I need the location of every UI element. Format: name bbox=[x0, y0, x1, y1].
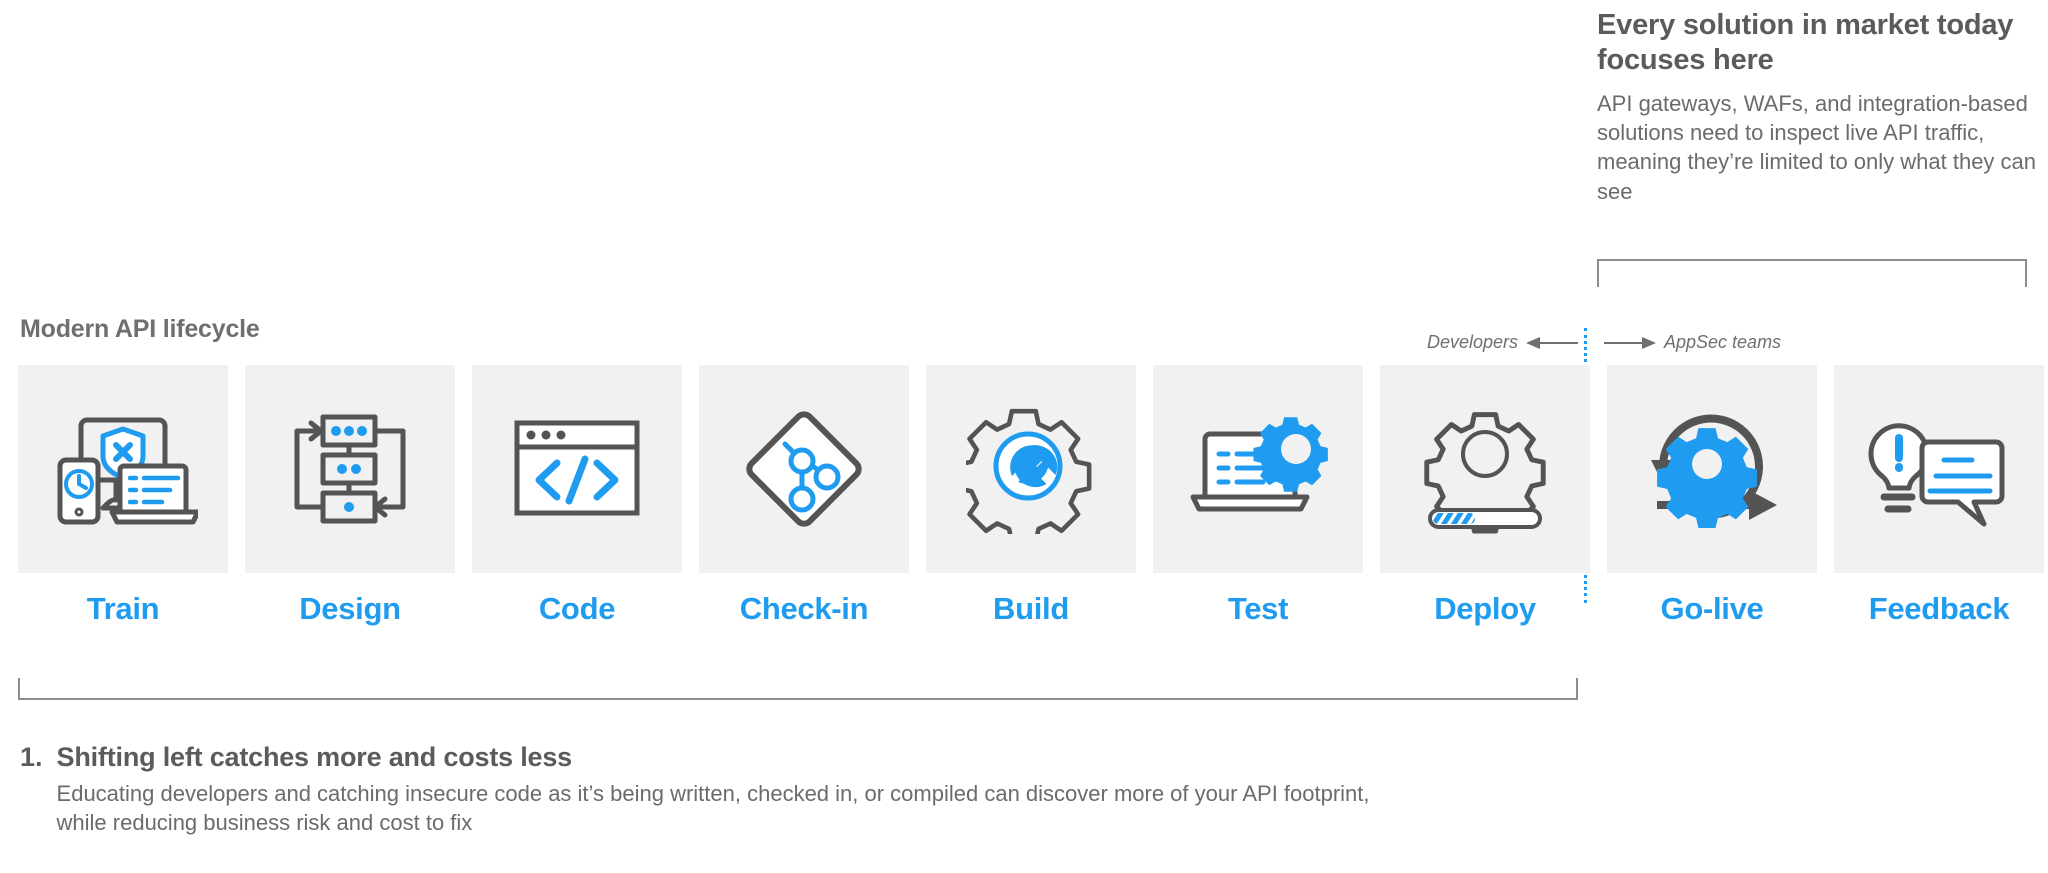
audience-label-appsec: AppSec teams bbox=[1604, 332, 1781, 353]
stage-build[interactable]: Build bbox=[926, 365, 1136, 627]
lightbulb-chat-icon bbox=[1864, 404, 2014, 534]
audience-label-developers: Developers bbox=[1427, 332, 1578, 353]
stage-design-label: Design bbox=[299, 591, 401, 627]
stage-train[interactable]: Train bbox=[18, 365, 228, 627]
stage-test-label: Test bbox=[1228, 591, 1288, 627]
appsec-scope-bracket bbox=[1597, 259, 2027, 287]
stage-test[interactable]: Test bbox=[1153, 365, 1363, 627]
stage-deploy[interactable]: Deploy bbox=[1380, 365, 1590, 627]
footnote-title: Shifting left catches more and costs les… bbox=[57, 742, 1420, 773]
stage-train-card[interactable] bbox=[18, 365, 228, 573]
stage-go-live-card[interactable] bbox=[1607, 365, 1817, 573]
stage-go-live[interactable]: Go-live bbox=[1607, 365, 1817, 627]
stage-deploy-card[interactable] bbox=[1380, 365, 1590, 573]
stage-build-card[interactable] bbox=[926, 365, 1136, 573]
page-title: Modern API lifecycle bbox=[20, 315, 260, 344]
stage-check-in-card[interactable] bbox=[699, 365, 909, 573]
laptop-gear-icon bbox=[1183, 409, 1333, 529]
flow-diagram-icon bbox=[285, 409, 415, 529]
stage-check-in[interactable]: Check-in bbox=[699, 365, 909, 627]
stage-code-label: Code bbox=[539, 591, 615, 627]
footnote-body: Educating developers and catching insecu… bbox=[57, 779, 1420, 837]
audience-developers-text: Developers bbox=[1427, 332, 1518, 353]
gear-progress-icon bbox=[1410, 402, 1560, 537]
git-branch-diamond-icon bbox=[739, 404, 869, 534]
stage-deploy-label: Deploy bbox=[1434, 591, 1536, 627]
callout-title: Every solution in market today focuses h… bbox=[1597, 8, 2037, 79]
stage-feedback-card[interactable] bbox=[1834, 365, 2044, 573]
footnote-item: 1. Shifting left catches more and costs … bbox=[20, 742, 1420, 837]
arrow-right-icon bbox=[1604, 336, 1656, 350]
stage-design[interactable]: Design bbox=[245, 365, 455, 627]
stage-feedback-label: Feedback bbox=[1869, 591, 2010, 627]
stage-train-label: Train bbox=[87, 591, 160, 627]
stage-check-in-label: Check-in bbox=[740, 591, 869, 627]
market-focus-callout: Every solution in market today focuses h… bbox=[1597, 8, 2037, 206]
gear-wrench-icon bbox=[966, 404, 1096, 534]
stage-code[interactable]: Code bbox=[472, 365, 682, 627]
callout-body: API gateways, WAFs, and integration-base… bbox=[1597, 89, 2037, 206]
stage-go-live-label: Go-live bbox=[1661, 591, 1764, 627]
devices-shield-icon bbox=[48, 404, 198, 534]
stage-design-card[interactable] bbox=[245, 365, 455, 573]
code-window-icon bbox=[507, 409, 647, 529]
arrow-left-icon bbox=[1526, 336, 1578, 350]
audience-appsec-text: AppSec teams bbox=[1664, 332, 1781, 353]
stage-code-card[interactable] bbox=[472, 365, 682, 573]
developer-scope-bracket bbox=[18, 678, 1578, 700]
lifecycle-stage-row: Train bbox=[18, 365, 2030, 627]
stage-feedback[interactable]: Feedback bbox=[1834, 365, 2044, 627]
stage-test-card[interactable] bbox=[1153, 365, 1363, 573]
stage-build-label: Build bbox=[993, 591, 1069, 627]
agile-loop-gear-icon bbox=[1637, 404, 1787, 534]
footnote-number: 1. bbox=[20, 742, 43, 837]
